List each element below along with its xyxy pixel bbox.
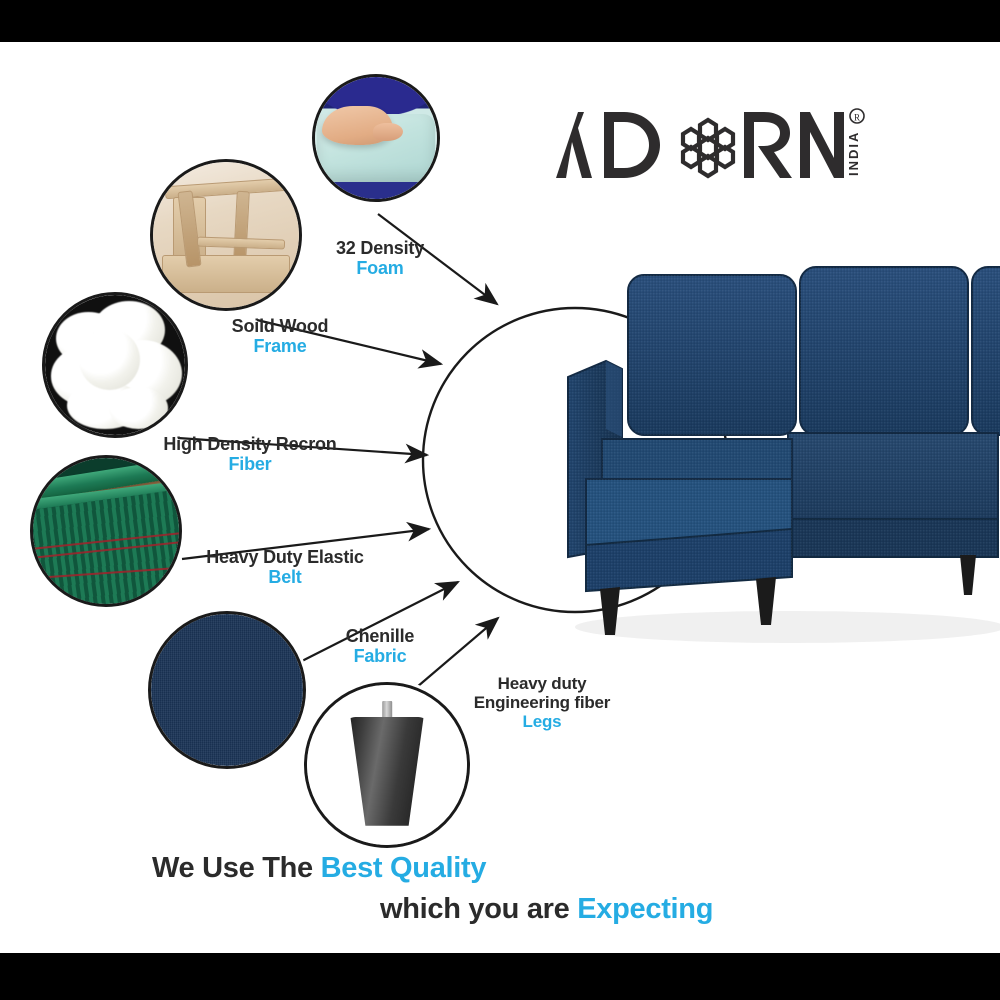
label-fabric-line2: Fabric: [290, 646, 470, 666]
belt-texture: [33, 458, 179, 604]
label-frame: Soild Wood Frame: [160, 316, 400, 356]
leg-body-shape: [345, 717, 428, 826]
label-legs-line1: Heavy duty: [498, 674, 587, 693]
sofa-back-cushions: [628, 267, 1000, 435]
tagline-line1: We Use The Best Quality: [0, 852, 1000, 885]
frame-plank: [233, 191, 250, 262]
infographic-canvas: INDIA R: [0, 42, 1000, 953]
wood-frame-texture: [153, 162, 299, 308]
label-legs: Heavy duty Engineering fiber Legs: [442, 674, 642, 731]
label-frame-line1: Soild Wood: [232, 316, 329, 336]
frame-panel: [162, 255, 290, 293]
fabric-texture: [151, 614, 303, 766]
foam-texture: [315, 77, 437, 199]
frame-plank: [197, 236, 285, 249]
label-foam-line2: Foam: [310, 258, 450, 278]
product-sofa-image: [560, 257, 1000, 657]
sofa-svg: [560, 257, 1000, 657]
swatch-recron-fiber: [42, 292, 188, 438]
label-belt-line2: Belt: [160, 567, 410, 587]
tagline-line2-accent: Expecting: [577, 893, 713, 925]
logo-letter-r: [744, 112, 792, 178]
fiber-texture: [45, 295, 185, 435]
hand-icon: [322, 106, 393, 145]
tagline-line2: which you are Expecting: [0, 893, 1000, 926]
logo-honeycomb-icon: [683, 120, 733, 176]
svg-text:INDIA: INDIA: [846, 131, 861, 176]
tagline-line1-accent: Best Quality: [321, 852, 487, 884]
brand-logo: INDIA R: [548, 104, 868, 190]
sofa-chaise: [586, 439, 792, 591]
logo-letter-d: [604, 112, 660, 178]
swatch-wood-frame: [150, 159, 302, 311]
label-belt-line1: Heavy Duty Elastic: [206, 547, 363, 567]
fiber-tuft: [109, 387, 168, 429]
sofa-floor-shadow: [575, 611, 1000, 643]
logo-letter-a: [556, 112, 592, 178]
label-fiber-line1: High Density Recron: [163, 434, 336, 454]
letterbox-bottom: [0, 953, 1000, 1000]
label-legs-line3: Legs: [442, 712, 642, 731]
logo-letter-n: [800, 112, 844, 178]
adorn-india-logo-svg: INDIA R: [548, 104, 868, 190]
tagline-line2-plain: which you are: [380, 893, 577, 925]
swatch-chenille-fabric: [148, 611, 306, 769]
label-foam-line1: 32 Density: [336, 238, 424, 258]
sofa-seat-base: [788, 433, 998, 557]
label-frame-line2: Frame: [160, 336, 400, 356]
label-belt: Heavy Duty Elastic Belt: [160, 547, 410, 587]
logo-registered-icon: R: [850, 109, 864, 123]
tagline-line1-plain: We Use The: [152, 852, 321, 884]
logo-india-text: INDIA: [846, 131, 861, 176]
label-fabric: Chenille Fabric: [290, 626, 470, 666]
tagline: We Use The Best Quality which you are Ex…: [0, 852, 1000, 926]
label-foam: 32 Density Foam: [310, 238, 450, 278]
svg-text:R: R: [854, 113, 860, 123]
swatch-foam: [312, 74, 440, 202]
fiber-tuft: [79, 329, 141, 391]
label-fabric-line1: Chenille: [346, 626, 414, 646]
label-legs-line2: Engineering fiber: [442, 693, 642, 712]
infographic-stage: INDIA R: [0, 0, 1000, 1000]
letterbox-top: [0, 0, 1000, 42]
